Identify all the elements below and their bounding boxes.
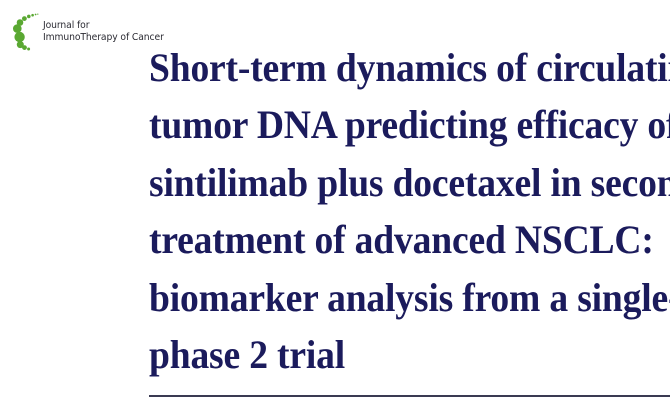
article-title-line-4: treatment of advanced NSCLC: bbox=[149, 211, 634, 269]
article-title-line-3: sintilimab plus docetaxel in second-line bbox=[149, 154, 634, 212]
article-title-line-6: phase 2 trial bbox=[149, 326, 634, 384]
article-title-line-5: biomarker analysis from a single-arm, bbox=[149, 269, 634, 327]
journal-logo-mark-icon bbox=[10, 13, 40, 51]
journal-logo-line-1: Journal for bbox=[43, 21, 164, 31]
journal-logo-line-2: ImmunoTherapy of Cancer bbox=[43, 33, 164, 43]
journal-logo: Journal for ImmunoTherapy of Cancer bbox=[10, 10, 146, 54]
title-divider bbox=[149, 395, 670, 397]
article-title: Short-term dynamics of circulating tumor… bbox=[149, 39, 665, 384]
article-title-line-2: tumor DNA predicting efficacy of bbox=[149, 96, 634, 154]
article-title-line-1: Short-term dynamics of circulating bbox=[149, 39, 634, 97]
